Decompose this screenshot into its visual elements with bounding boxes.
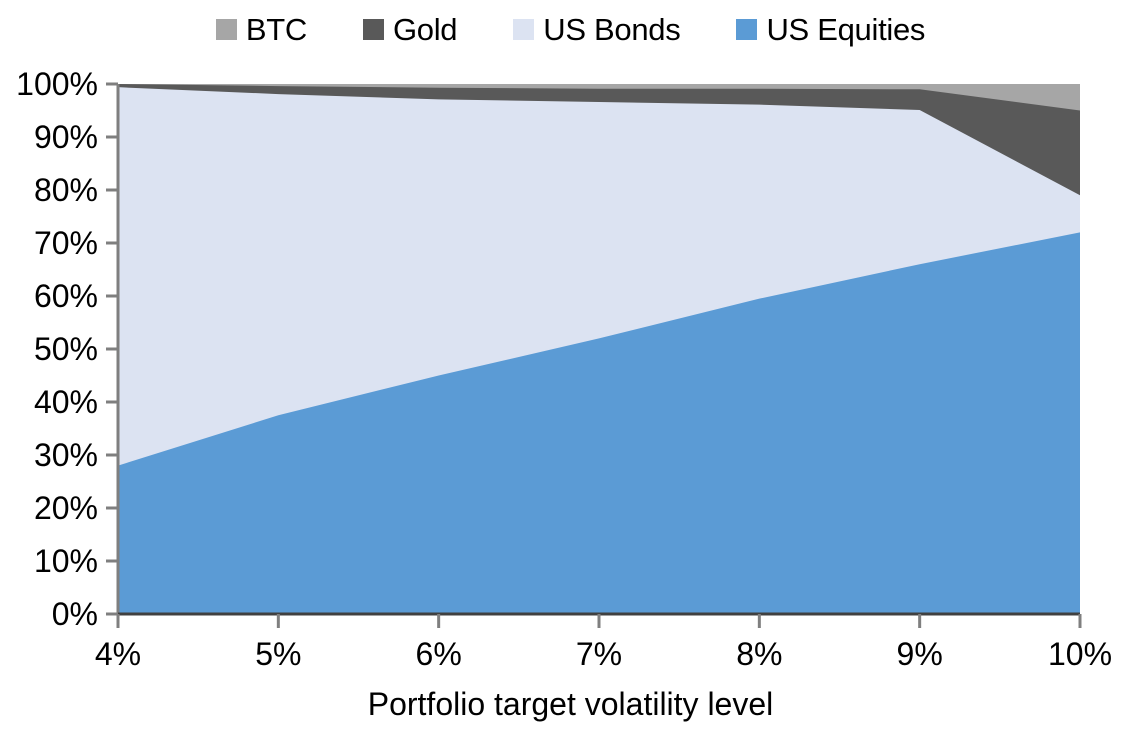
legend-label-us-bonds: US Bonds	[543, 14, 680, 45]
x-axis-tick-label: 7%	[519, 638, 679, 670]
stacked-area-chart: BTC Gold US Bonds US Equities 100%90%80%…	[0, 0, 1141, 742]
x-axis-tick-label: 6%	[359, 638, 519, 670]
y-axis-tick-label: 10%	[0, 545, 98, 577]
y-axis-tick-label: 90%	[0, 121, 98, 153]
legend-label-gold: Gold	[393, 14, 457, 45]
x-axis-tick-label: 10%	[1000, 638, 1141, 670]
y-axis-tick-label: 20%	[0, 492, 98, 524]
legend-item-gold[interactable]: Gold	[363, 14, 457, 45]
legend-item-us-bonds[interactable]: US Bonds	[513, 14, 680, 45]
x-axis-tick-label: 4%	[38, 638, 198, 670]
x-axis-tick-label: 8%	[679, 638, 839, 670]
y-axis-tick-label: 60%	[0, 280, 98, 312]
y-axis-tick-label: 100%	[0, 68, 98, 100]
legend-swatch-btc	[216, 19, 237, 40]
y-axis-tick-label: 40%	[0, 386, 98, 418]
plot-area: 100%90%80%70%60%50%40%30%20%10%0% 4%5%6%…	[0, 52, 1141, 742]
y-axis-tick-label: 70%	[0, 227, 98, 259]
y-axis-tick-label: 80%	[0, 174, 98, 206]
legend-label-btc: BTC	[246, 14, 307, 45]
x-axis-title: Portfolio target volatility level	[0, 688, 1141, 720]
legend-swatch-us-bonds	[513, 19, 534, 40]
x-axis-tick-label: 9%	[840, 638, 1000, 670]
y-axis-tick-label: 0%	[0, 598, 98, 630]
chart-legend: BTC Gold US Bonds US Equities	[0, 6, 1141, 52]
legend-swatch-gold	[363, 19, 384, 40]
legend-label-us-equities: US Equities	[766, 14, 925, 45]
y-axis-tick-label: 30%	[0, 439, 98, 471]
legend-item-us-equities[interactable]: US Equities	[736, 14, 925, 45]
y-axis-tick-label: 50%	[0, 333, 98, 365]
legend-swatch-us-equities	[736, 19, 757, 40]
legend-item-btc[interactable]: BTC	[216, 14, 307, 45]
x-axis-tick-label: 5%	[198, 638, 358, 670]
